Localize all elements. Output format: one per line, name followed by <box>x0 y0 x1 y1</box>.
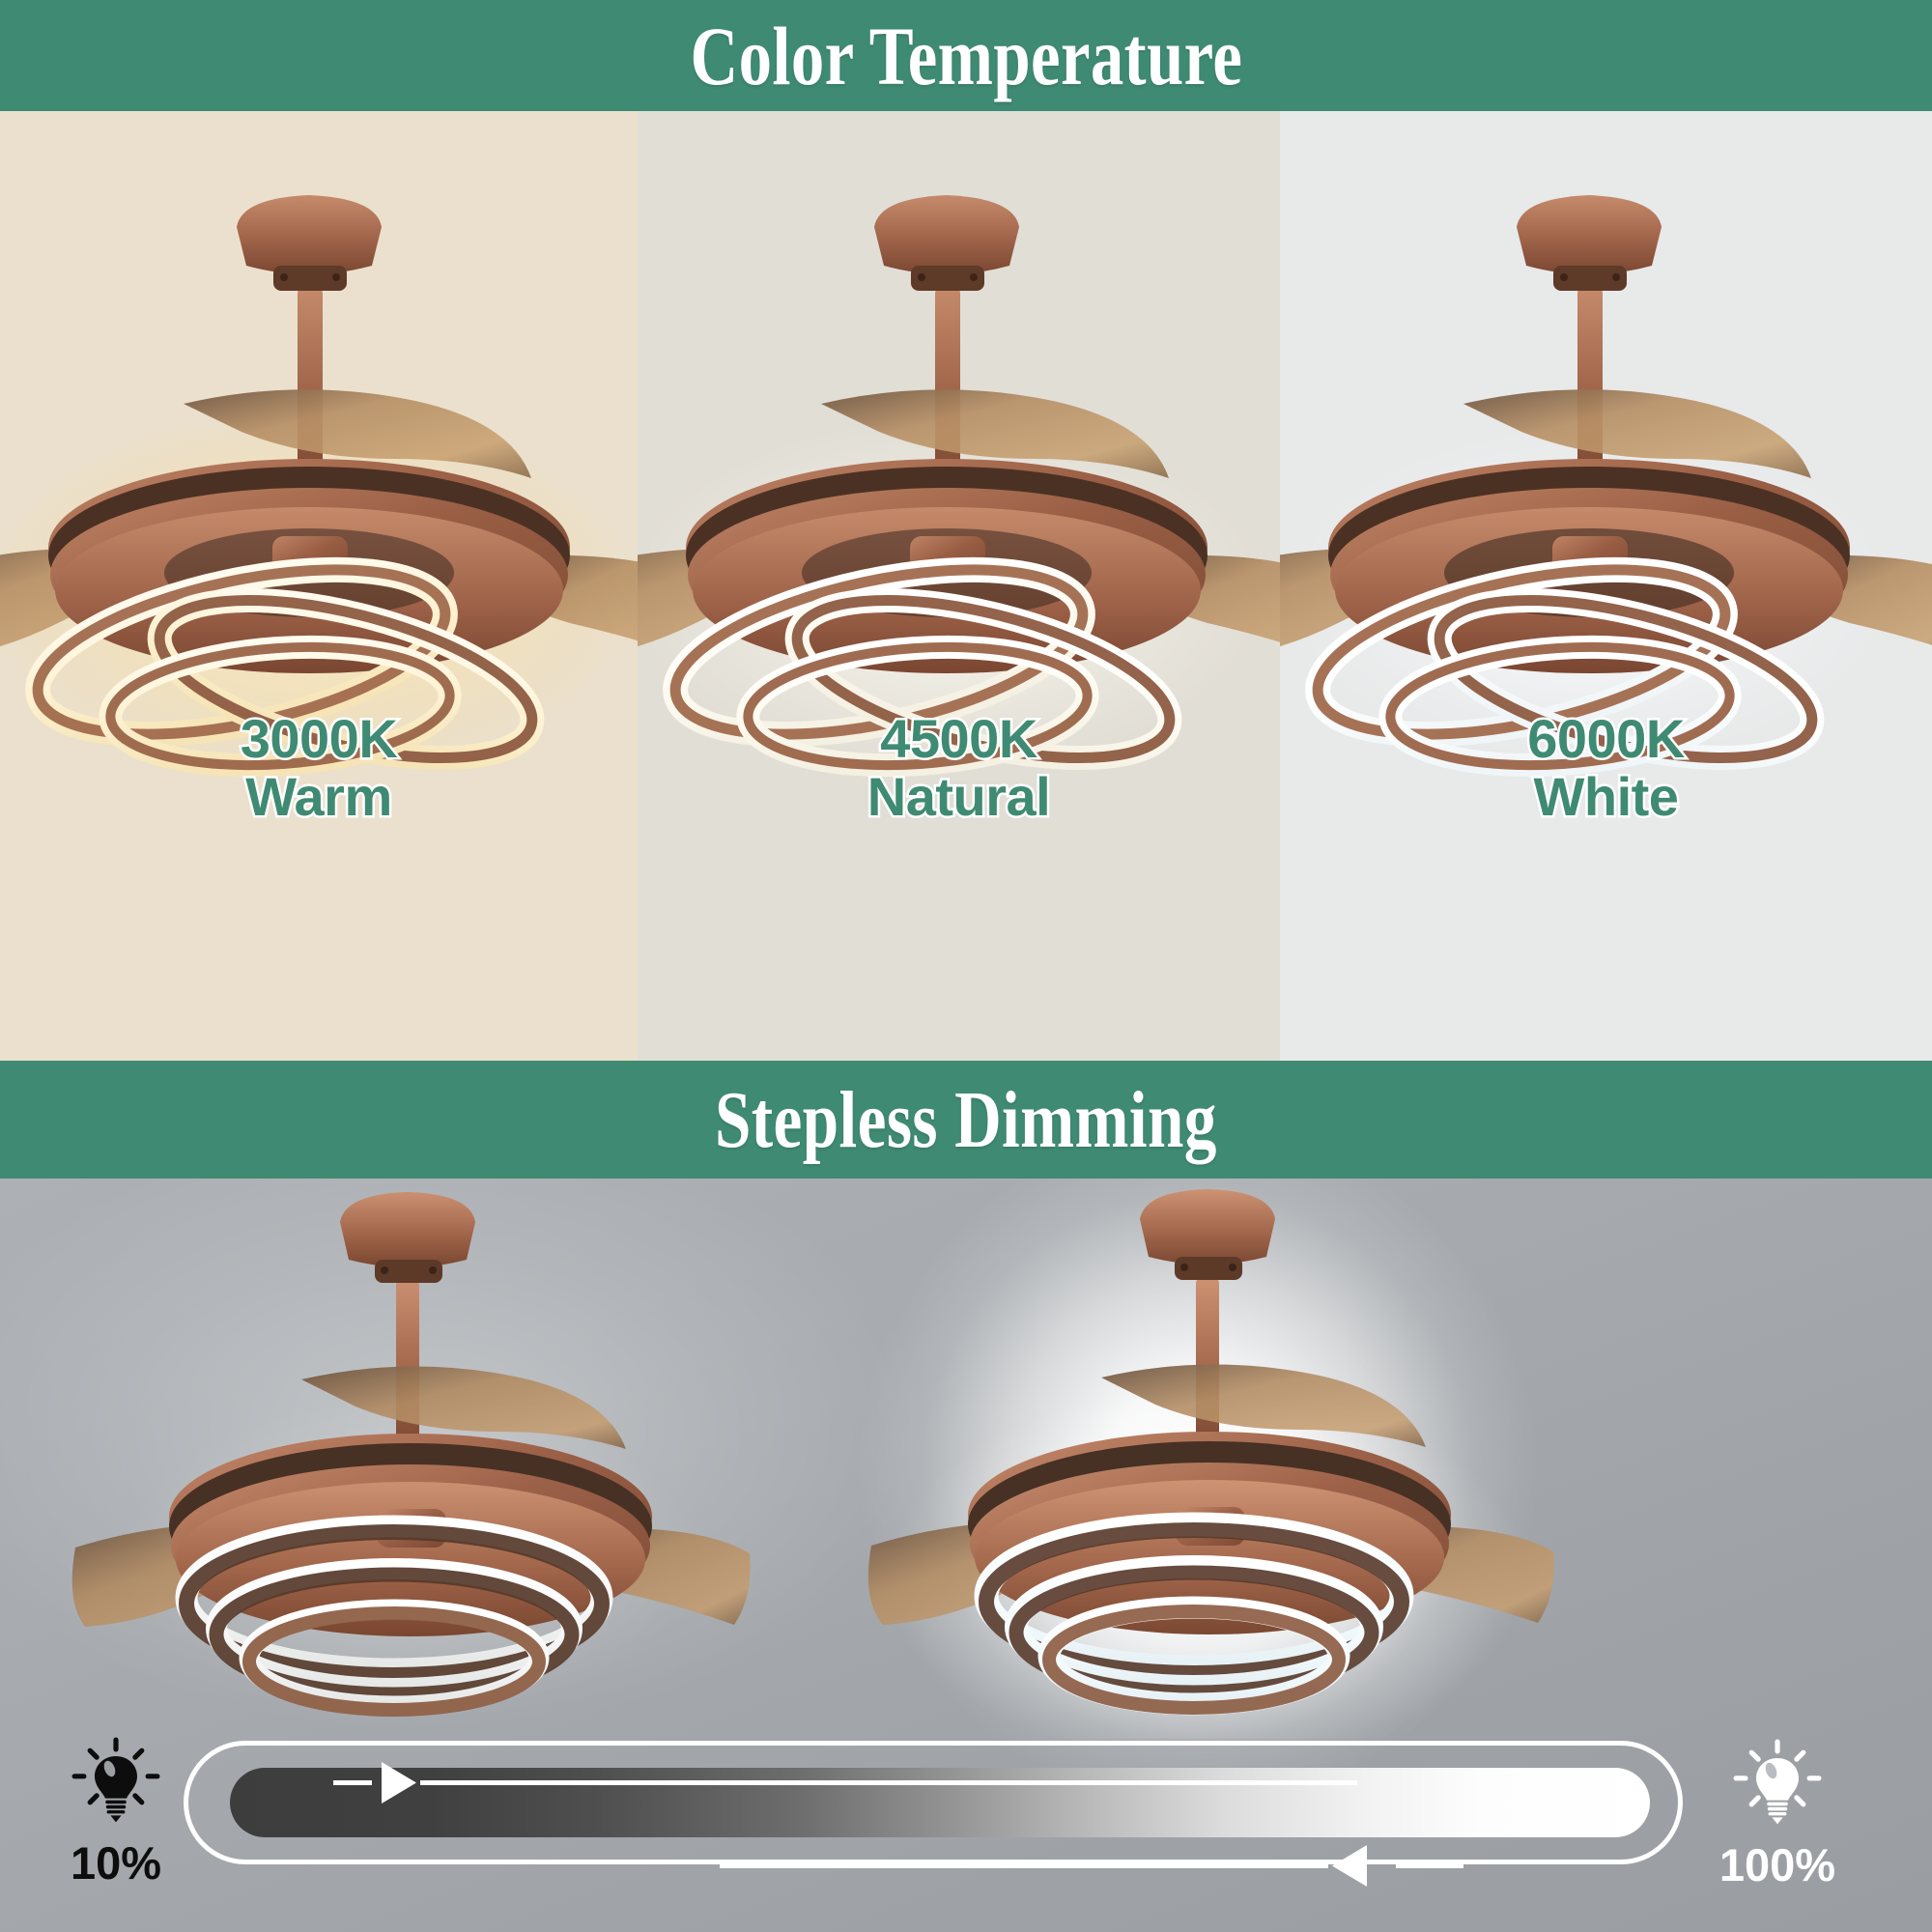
ceiling-fan-illustration <box>58 1179 753 1729</box>
dimming-min-label: 10% <box>34 1840 198 1886</box>
light-bulb-icon <box>71 1737 160 1826</box>
ceiling-fan-dim-100 <box>850 1179 1565 1744</box>
ceiling-fan-dim-10 <box>58 1179 753 1734</box>
color-temperature-section: 3000K Warm <box>0 111 1932 1061</box>
ceiling-fan-illustration <box>850 1179 1565 1739</box>
light-bulb-icon <box>1733 1739 1822 1828</box>
ceiling-fan-4500k <box>638 169 1280 792</box>
color-temperature-panel-4500k: 4500K Natural <box>638 111 1280 1061</box>
stepless-dimming-banner-title: Stepless Dimming <box>715 1073 1217 1167</box>
ceiling-fan-illustration <box>1280 169 1932 787</box>
infographic-page: Color Temperature <box>0 0 1932 1932</box>
ceiling-fan-3000k <box>0 169 638 792</box>
dimming-slider-row[interactable]: 10% <box>0 1719 1932 1913</box>
color-temperature-panel-3000k: 3000K Warm <box>0 111 638 1061</box>
color-temperature-banner-title: Color Temperature <box>690 8 1242 104</box>
ceiling-fan-illustration <box>0 169 638 787</box>
ceiling-fan-6000k <box>1280 169 1932 792</box>
arrow-left-icon <box>333 1760 1357 1823</box>
arrow-right-icon <box>720 1843 1744 1906</box>
color-temperature-banner: Color Temperature <box>0 0 1932 111</box>
dimming-max-label: 100% <box>1695 1842 1860 1888</box>
dimming-min-group: 10% <box>34 1737 198 1886</box>
stepless-dimming-banner: Stepless Dimming <box>0 1061 1932 1179</box>
stepless-dimming-section: 10% <box>0 1179 1932 1932</box>
dimming-max-group: 100% <box>1695 1739 1860 1888</box>
ceiling-fan-illustration <box>638 169 1280 787</box>
color-temperature-panel-6000k: 6000K White <box>1280 111 1932 1061</box>
